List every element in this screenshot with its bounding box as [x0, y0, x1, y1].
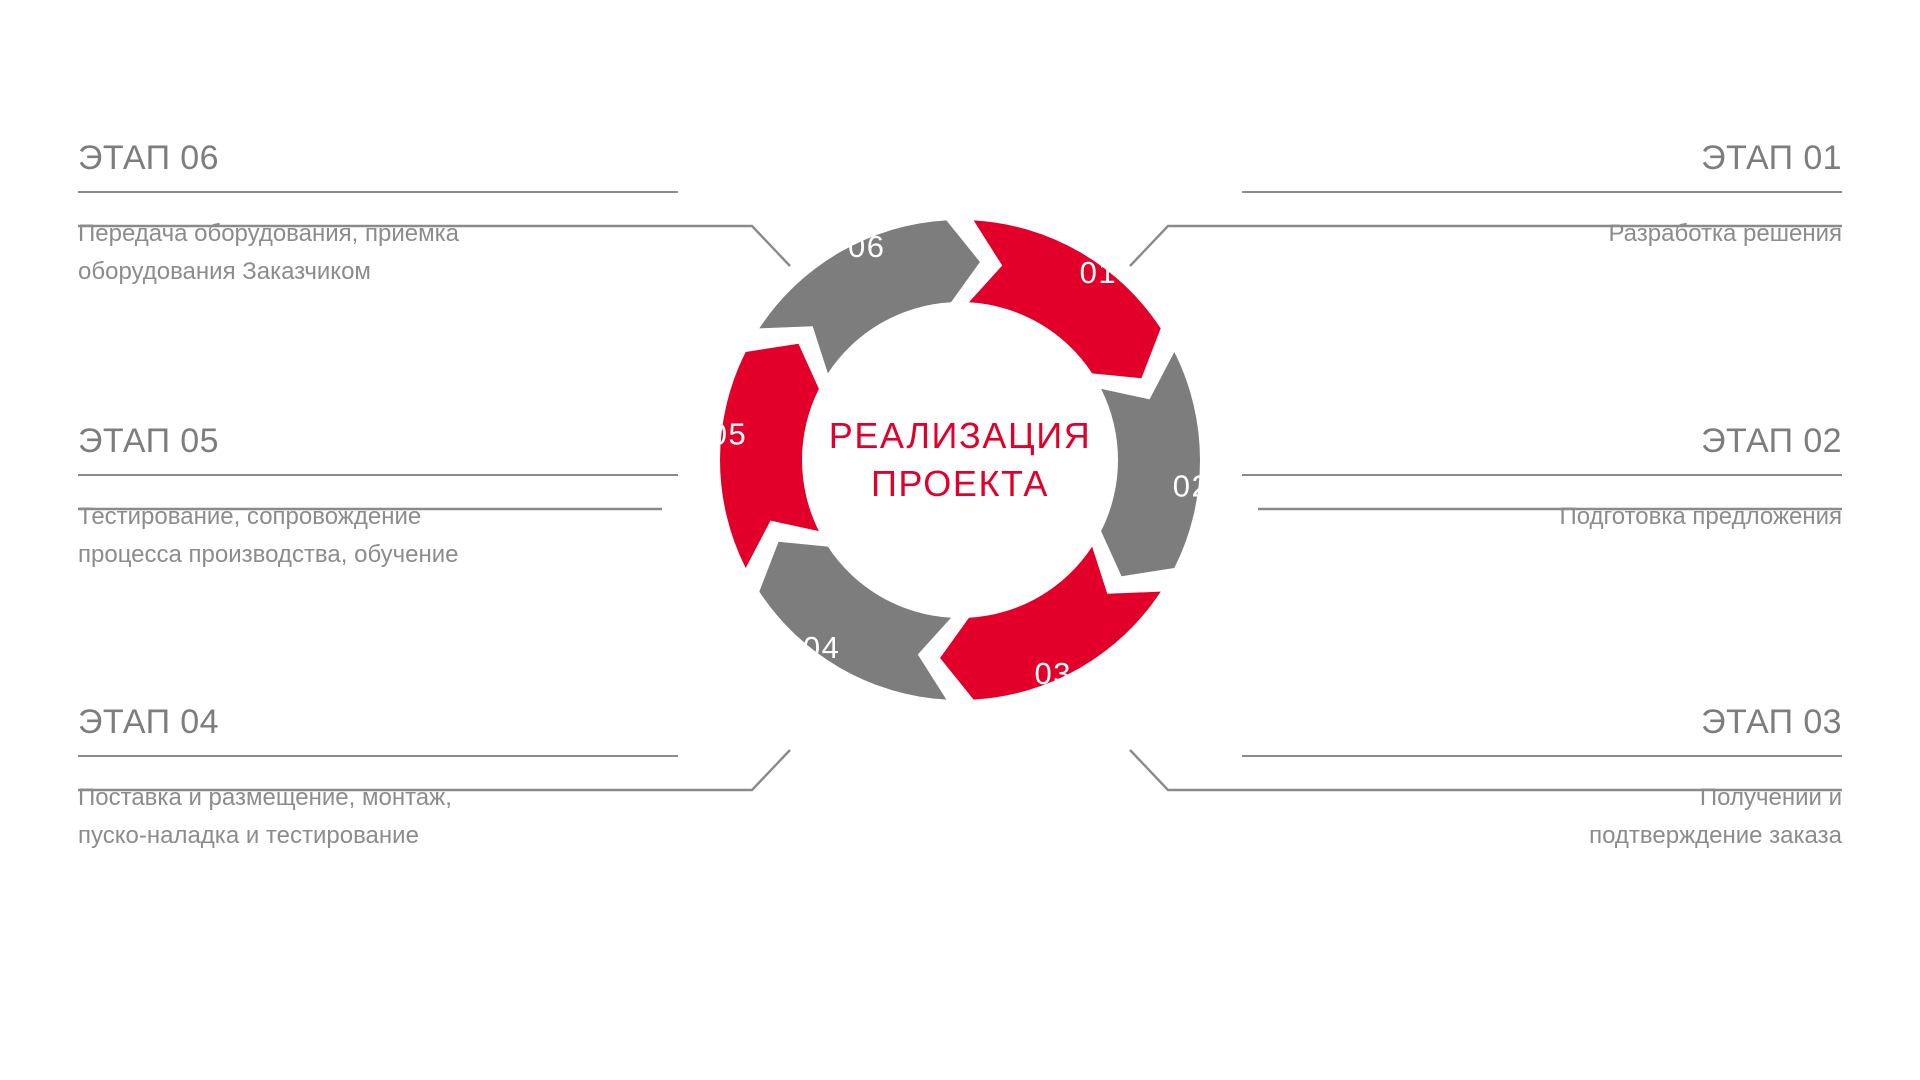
stage-desc-03: Получении и подтверждение заказа — [1242, 779, 1842, 855]
stage-rule-05 — [78, 474, 678, 476]
donut-segment-02[interactable] — [1101, 352, 1200, 576]
stage-block-06[interactable]: ЭТАП 06 Передача оборудования, приемка о… — [78, 140, 678, 291]
stage-desc-04-line-1: Поставка и размещение, монтаж, — [78, 779, 678, 817]
stage-desc-04-line-2: пуско-наладка и тестирование — [78, 817, 678, 855]
stage-title-05: ЭТАП 05 — [78, 423, 678, 460]
stage-desc-02-line-1: Подготовка предложения — [1242, 498, 1842, 536]
stage-desc-06: Передача оборудования, приемка оборудова… — [78, 215, 678, 291]
stage-title-02: ЭТАП 02 — [1242, 423, 1842, 460]
stage-desc-03-line-2: подтверждение заказа — [1242, 817, 1842, 855]
donut-label-03: 03 — [1034, 656, 1071, 691]
stage-desc-02: Подготовка предложения — [1242, 498, 1842, 536]
stage-desc-04: Поставка и размещение, монтаж, пуско-нал… — [78, 779, 678, 855]
donut-label-01: 01 — [1080, 255, 1117, 290]
stage-desc-01-line-1: Разработка решения — [1242, 215, 1842, 253]
stage-desc-06-line-1: Передача оборудования, приемка — [78, 215, 678, 253]
stage-desc-05-line-1: Тестирование, сопровождение — [78, 498, 678, 536]
stage-block-02[interactable]: ЭТАП 02 Подготовка предложения — [1242, 423, 1842, 536]
stage-rule-06 — [78, 191, 678, 193]
cycle-donut-chart: 010203040506 — [660, 160, 1260, 760]
donut-segments — [720, 220, 1200, 699]
stage-rule-01 — [1242, 191, 1842, 193]
stage-block-04[interactable]: ЭТАП 04 Поставка и размещение, монтаж, п… — [78, 704, 678, 855]
stage-desc-06-line-2: оборудования Заказчиком — [78, 253, 678, 291]
stage-title-06: ЭТАП 06 — [78, 140, 678, 177]
stage-rule-02 — [1242, 474, 1842, 476]
stage-desc-01: Разработка решения — [1242, 215, 1842, 253]
donut-segment-04[interactable] — [759, 542, 951, 700]
stage-block-05[interactable]: ЭТАП 05 Тестирование, сопровождение проц… — [78, 423, 678, 574]
donut-svg: 010203040506 — [660, 160, 1260, 760]
donut-label-05: 05 — [710, 416, 747, 451]
infographic-canvas: ЭТАП 06 Передача оборудования, приемка о… — [0, 0, 1920, 1080]
donut-label-06: 06 — [848, 229, 885, 264]
stage-title-03: ЭТАП 03 — [1242, 704, 1842, 741]
stage-block-03[interactable]: ЭТАП 03 Получении и подтверждение заказа — [1242, 704, 1842, 855]
stage-desc-05-line-2: процесса производства, обучение — [78, 536, 678, 574]
stage-desc-03-line-1: Получении и — [1242, 779, 1842, 817]
donut-label-04: 04 — [803, 630, 840, 665]
donut-segment-05[interactable] — [720, 344, 819, 568]
stage-block-01[interactable]: ЭТАП 01 Разработка решения — [1242, 140, 1842, 253]
stage-title-04: ЭТАП 04 — [78, 704, 678, 741]
donut-segment-01[interactable] — [969, 220, 1161, 378]
stage-rule-04 — [78, 755, 678, 757]
stage-title-01: ЭТАП 01 — [1242, 140, 1842, 177]
stage-rule-03 — [1242, 755, 1842, 757]
stage-desc-05: Тестирование, сопровождение процесса про… — [78, 498, 678, 574]
donut-label-02: 02 — [1173, 469, 1210, 504]
